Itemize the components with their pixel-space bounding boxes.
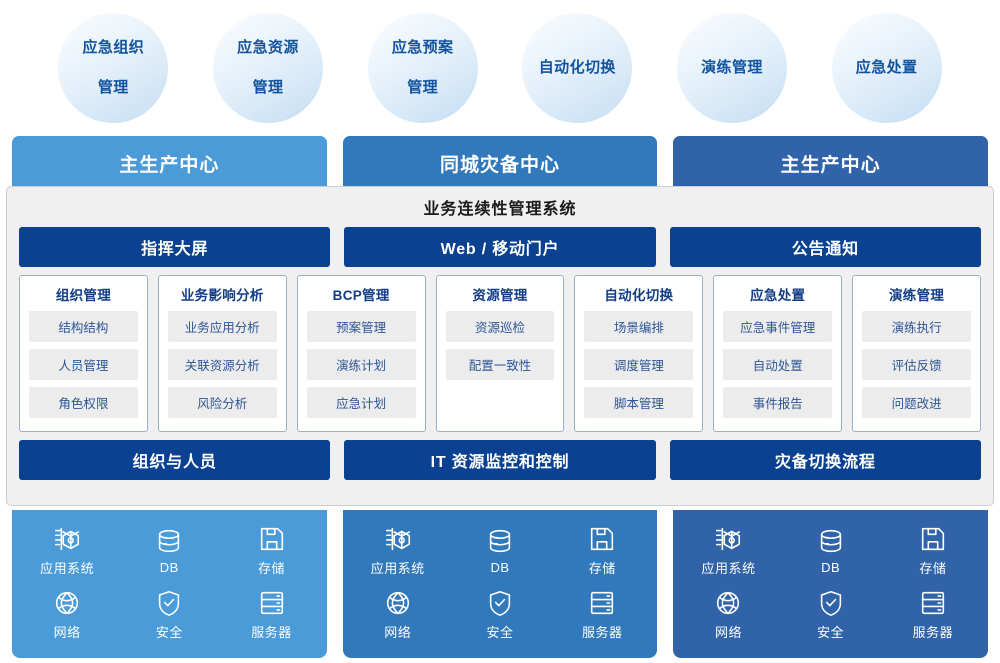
center-header-label-1: 同城灾备中心 bbox=[440, 150, 560, 177]
infra-label: DB bbox=[490, 560, 509, 575]
app-system-icon bbox=[383, 524, 413, 554]
card-item-0-1[interactable]: 人员管理 bbox=[29, 349, 138, 380]
infra-label: 网络 bbox=[715, 622, 742, 641]
storage-icon bbox=[918, 524, 948, 554]
infra-cell-network[interactable]: 网络 bbox=[52, 588, 82, 641]
infra-cell-network[interactable]: 网络 bbox=[713, 588, 743, 641]
bottom-bar-dr-switchover-process[interactable]: 灾备切换流程 bbox=[670, 440, 981, 480]
circle-label-line2-2: 管理 bbox=[384, 78, 462, 98]
panel-top-bar-row: 指挥大屏 Web / 移动门户 公告通知 bbox=[7, 227, 993, 267]
database-icon bbox=[816, 526, 846, 556]
bcm-system-panel: 业务连续性管理系统 指挥大屏 Web / 移动门户 公告通知 组织管理 结构结构… bbox=[6, 186, 994, 506]
bottom-bar-it-resource-monitoring[interactable]: IT 资源监控和控制 bbox=[344, 440, 655, 480]
infra-label: 应用系统 bbox=[40, 558, 94, 577]
center-header-label-2: 主生产中心 bbox=[781, 150, 881, 177]
network-icon bbox=[52, 588, 82, 618]
card-title-3: 资源管理 bbox=[446, 284, 555, 304]
bottom-bar-label-1: IT 资源监控和控制 bbox=[431, 448, 570, 472]
card-item-6-1[interactable]: 评估反馈 bbox=[862, 349, 971, 380]
capability-circle-3[interactable]: 自动化切换 bbox=[522, 13, 632, 123]
card-item-6-0[interactable]: 演练执行 bbox=[862, 311, 971, 342]
top-bar-command-screen[interactable]: 指挥大屏 bbox=[19, 227, 330, 267]
card-title-1: 业务影响分析 bbox=[168, 284, 277, 304]
card-item-1-1[interactable]: 关联资源分析 bbox=[168, 349, 277, 380]
card-item-2-2[interactable]: 应急计划 bbox=[307, 387, 416, 418]
card-item-3-1[interactable]: 配置一致性 bbox=[446, 349, 555, 380]
bottom-bar-label-2: 灾备切换流程 bbox=[775, 448, 876, 472]
shield-check-icon bbox=[485, 588, 515, 618]
app-system-icon bbox=[52, 524, 82, 554]
network-icon bbox=[383, 588, 413, 618]
module-card-business-impact-analysis[interactable]: 业务影响分析 业务应用分析 关联资源分析 风险分析 bbox=[158, 275, 287, 432]
card-title-4: 自动化切换 bbox=[584, 284, 693, 304]
infra-label: 网络 bbox=[54, 622, 81, 641]
card-item-5-2[interactable]: 事件报告 bbox=[723, 387, 832, 418]
storage-icon bbox=[257, 524, 287, 554]
circle-label-line2-1: 管理 bbox=[229, 78, 307, 98]
server-icon bbox=[257, 588, 287, 618]
card-title-5: 应急处置 bbox=[723, 284, 832, 304]
top-bar-label-0: 指挥大屏 bbox=[141, 235, 208, 259]
circle-label-line1-2: 应急预案 bbox=[384, 38, 462, 58]
infrastructure-panel-remote-dr: 应用系统DB存储网络安全服务器 bbox=[673, 510, 988, 658]
diagram-root: 应急组织管理 应急资源管理 应急预案管理 自动化切换 演练管理 应急处置 主生产… bbox=[0, 0, 1000, 663]
infra-label: DB bbox=[160, 560, 179, 575]
capability-circle-row: 应急组织管理 应急资源管理 应急预案管理 自动化切换 演练管理 应急处置 bbox=[0, 8, 1000, 128]
module-card-automated-switchover[interactable]: 自动化切换 场景编排 调度管理 脚本管理 bbox=[574, 275, 703, 432]
card-items-6: 演练执行 评估反馈 问题改进 bbox=[862, 311, 971, 418]
center-header-row: 主生产中心 同城灾备中心 主生产中心 bbox=[0, 136, 1000, 191]
center-header-label-0: 主生产中心 bbox=[119, 150, 219, 177]
infra-label: 服务器 bbox=[913, 622, 954, 641]
module-cards-row: 组织管理 结构结构 人员管理 角色权限 业务影响分析 业务应用分析 关联资源分析… bbox=[7, 267, 993, 432]
card-items-4: 场景编排 调度管理 脚本管理 bbox=[584, 311, 693, 418]
card-title-6: 演练管理 bbox=[862, 284, 971, 304]
server-icon bbox=[587, 588, 617, 618]
infra-cell-storage[interactable]: 存储 bbox=[587, 524, 617, 577]
infra-cell-server[interactable]: 服务器 bbox=[251, 588, 292, 641]
card-item-2-0[interactable]: 预案管理 bbox=[307, 311, 416, 342]
card-item-4-0[interactable]: 场景编排 bbox=[584, 311, 693, 342]
center-header-remote-dr[interactable]: 主生产中心 bbox=[673, 136, 988, 191]
panel-title: 业务连续性管理系统 bbox=[7, 187, 993, 227]
circle-label-4: 演练管理 bbox=[693, 58, 771, 78]
bottom-bar-org-and-people[interactable]: 组织与人员 bbox=[19, 440, 330, 480]
infra-label: 应用系统 bbox=[701, 558, 755, 577]
infra-cell-app-system[interactable]: 应用系统 bbox=[701, 524, 755, 577]
module-card-org-management[interactable]: 组织管理 结构结构 人员管理 角色权限 bbox=[19, 275, 148, 432]
circle-label-5: 应急处置 bbox=[848, 58, 926, 78]
center-header-primary-production[interactable]: 主生产中心 bbox=[12, 136, 327, 191]
infra-cell-network[interactable]: 网络 bbox=[383, 588, 413, 641]
infra-label: 安全 bbox=[156, 622, 183, 641]
infra-label: 存储 bbox=[589, 558, 616, 577]
card-item-5-1[interactable]: 自动处置 bbox=[723, 349, 832, 380]
circle-label-3: 自动化切换 bbox=[531, 58, 624, 78]
infra-cell-storage[interactable]: 存储 bbox=[257, 524, 287, 577]
network-icon bbox=[713, 588, 743, 618]
panel-bottom-bar-row: 组织与人员 IT 资源监控和控制 灾备切换流程 bbox=[7, 440, 993, 480]
infra-label: 安全 bbox=[486, 622, 513, 641]
capability-circle-0[interactable]: 应急组织管理 bbox=[58, 13, 168, 123]
infrastructure-panel-primary-production: 应用系统DB存储网络安全服务器 bbox=[12, 510, 327, 658]
database-icon bbox=[154, 526, 184, 556]
card-item-1-0[interactable]: 业务应用分析 bbox=[168, 311, 277, 342]
infra-cell-shield-check[interactable]: 安全 bbox=[485, 588, 515, 641]
capability-circle-1[interactable]: 应急资源管理 bbox=[213, 13, 323, 123]
infra-cell-database[interactable]: DB bbox=[816, 526, 846, 575]
card-item-0-2[interactable]: 角色权限 bbox=[29, 387, 138, 418]
infra-label: 服务器 bbox=[251, 622, 292, 641]
card-items-3: 资源巡检 配置一致性 bbox=[446, 311, 555, 380]
infra-cell-shield-check[interactable]: 安全 bbox=[154, 588, 184, 641]
infra-cell-app-system[interactable]: 应用系统 bbox=[371, 524, 425, 577]
circle-label-line2-0: 管理 bbox=[75, 78, 153, 98]
bottom-bar-label-0: 组织与人员 bbox=[133, 448, 217, 472]
capability-circle-5[interactable]: 应急处置 bbox=[832, 13, 942, 123]
module-card-emergency-response[interactable]: 应急处置 应急事件管理 自动处置 事件报告 bbox=[713, 275, 842, 432]
top-bar-label-1: Web / 移动门户 bbox=[441, 235, 560, 259]
infra-cell-server[interactable]: 服务器 bbox=[582, 588, 623, 641]
card-item-5-0[interactable]: 应急事件管理 bbox=[723, 311, 832, 342]
infra-label: DB bbox=[821, 560, 840, 575]
infrastructure-row: 应用系统DB存储网络安全服务器 应用系统DB存储网络安全服务器 应用系统DB存储… bbox=[12, 510, 988, 658]
module-card-bcp-management[interactable]: BCP管理 预案管理 演练计划 应急计划 bbox=[297, 275, 426, 432]
infra-label: 存储 bbox=[919, 558, 946, 577]
card-items-1: 业务应用分析 关联资源分析 风险分析 bbox=[168, 311, 277, 418]
top-bar-label-2: 公告通知 bbox=[792, 235, 859, 259]
card-items-0: 结构结构 人员管理 角色权限 bbox=[29, 311, 138, 418]
circle-label-line1-0: 应急组织 bbox=[75, 38, 153, 58]
card-item-4-1[interactable]: 调度管理 bbox=[584, 349, 693, 380]
infra-cell-database[interactable]: DB bbox=[485, 526, 515, 575]
capability-circle-4[interactable]: 演练管理 bbox=[677, 13, 787, 123]
capability-circle-2[interactable]: 应急预案管理 bbox=[368, 13, 478, 123]
infra-label: 应用系统 bbox=[371, 558, 425, 577]
circle-label-line1-1: 应急资源 bbox=[229, 38, 307, 58]
infra-cell-database[interactable]: DB bbox=[154, 526, 184, 575]
card-title-2: BCP管理 bbox=[307, 284, 416, 304]
infra-cell-server[interactable]: 服务器 bbox=[913, 588, 954, 641]
card-item-4-2[interactable]: 脚本管理 bbox=[584, 387, 693, 418]
card-item-6-2[interactable]: 问题改进 bbox=[862, 387, 971, 418]
card-item-1-2[interactable]: 风险分析 bbox=[168, 387, 277, 418]
shield-check-icon bbox=[816, 588, 846, 618]
infra-cell-app-system[interactable]: 应用系统 bbox=[40, 524, 94, 577]
infrastructure-panel-metro-dr: 应用系统DB存储网络安全服务器 bbox=[343, 510, 658, 658]
top-bar-announcement[interactable]: 公告通知 bbox=[670, 227, 981, 267]
module-card-resource-management[interactable]: 资源管理 资源巡检 配置一致性 bbox=[436, 275, 565, 432]
infra-label: 网络 bbox=[384, 622, 411, 641]
infra-label: 服务器 bbox=[582, 622, 623, 641]
card-items-2: 预案管理 演练计划 应急计划 bbox=[307, 311, 416, 418]
card-items-5: 应急事件管理 自动处置 事件报告 bbox=[723, 311, 832, 418]
server-icon bbox=[918, 588, 948, 618]
card-item-2-1[interactable]: 演练计划 bbox=[307, 349, 416, 380]
app-system-icon bbox=[713, 524, 743, 554]
infra-label: 安全 bbox=[817, 622, 844, 641]
shield-check-icon bbox=[154, 588, 184, 618]
card-title-0: 组织管理 bbox=[29, 284, 138, 304]
center-header-metro-dr[interactable]: 同城灾备中心 bbox=[343, 136, 658, 191]
infra-label: 存储 bbox=[258, 558, 285, 577]
card-item-3-0[interactable]: 资源巡检 bbox=[446, 311, 555, 342]
storage-icon bbox=[587, 524, 617, 554]
card-item-0-0[interactable]: 结构结构 bbox=[29, 311, 138, 342]
module-card-drill-management[interactable]: 演练管理 演练执行 评估反馈 问题改进 bbox=[852, 275, 981, 432]
infra-cell-shield-check[interactable]: 安全 bbox=[816, 588, 846, 641]
database-icon bbox=[485, 526, 515, 556]
top-bar-web-mobile-portal[interactable]: Web / 移动门户 bbox=[344, 227, 655, 267]
infra-cell-storage[interactable]: 存储 bbox=[918, 524, 948, 577]
